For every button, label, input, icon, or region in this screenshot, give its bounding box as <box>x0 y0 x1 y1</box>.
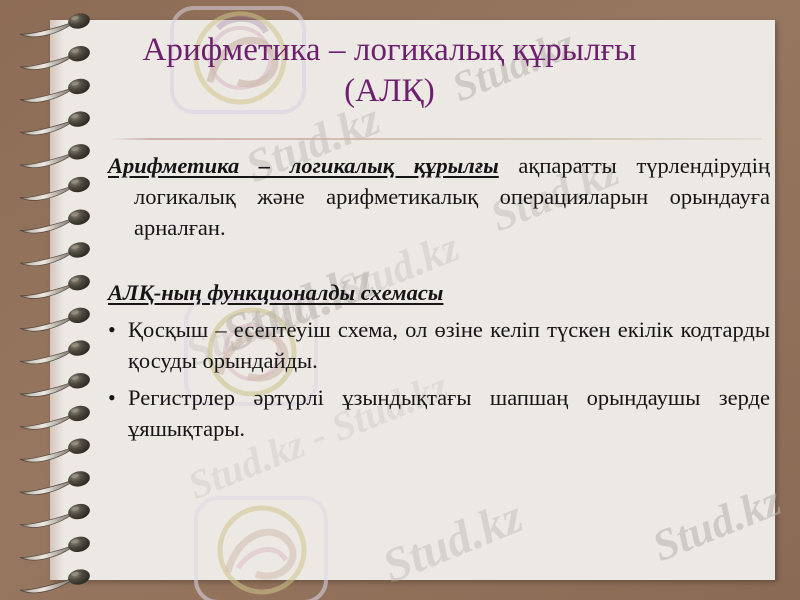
definition-term: Арифметика – логикалық құрылғы <box>108 153 499 178</box>
bullet-icon: • <box>108 382 128 413</box>
title-line-1: Арифметика – логикалық құрылғы <box>62 30 717 71</box>
paragraph-definition: Арифметика – логикалық құрылғы ақпаратты… <box>108 150 770 243</box>
list-item-label: Қосқыш – есептеуіш схема, ол өзіне келіп… <box>128 314 770 376</box>
logo-watermark-bottom <box>180 490 350 600</box>
watermark-bottom-center: Stud.kz <box>375 489 530 594</box>
list-item: • Қосқыш – есептеуіш схема, ол өзіне кел… <box>108 314 770 376</box>
slide-body: Арифметика – логикалық құрылғы ақпаратты… <box>108 150 770 444</box>
title-divider <box>110 138 762 140</box>
paragraph-spacer <box>108 243 770 277</box>
subheading-functional-scheme: АЛҚ-ның функционалды схемасы <box>108 277 443 308</box>
slide-title: Арифметика – логикалық құрылғы (АЛҚ) <box>62 30 717 112</box>
watermark-bottom-right: Stud.kz <box>645 475 788 572</box>
subheading-row: АЛҚ-ның функционалды схемасы <box>108 277 770 308</box>
list-item: • Регистрлер әртүрлі ұзындықтағы шапшаң … <box>108 382 770 444</box>
bullet-icon: • <box>108 314 128 345</box>
title-line-2: (АЛҚ) <box>62 71 717 112</box>
list-item-label: Регистрлер әртүрлі ұзындықтағы шапшаң ор… <box>128 382 770 444</box>
slide-canvas: Stud.kz Stud.kz Stud.kz Stud.kz Stud.kz … <box>0 0 800 600</box>
